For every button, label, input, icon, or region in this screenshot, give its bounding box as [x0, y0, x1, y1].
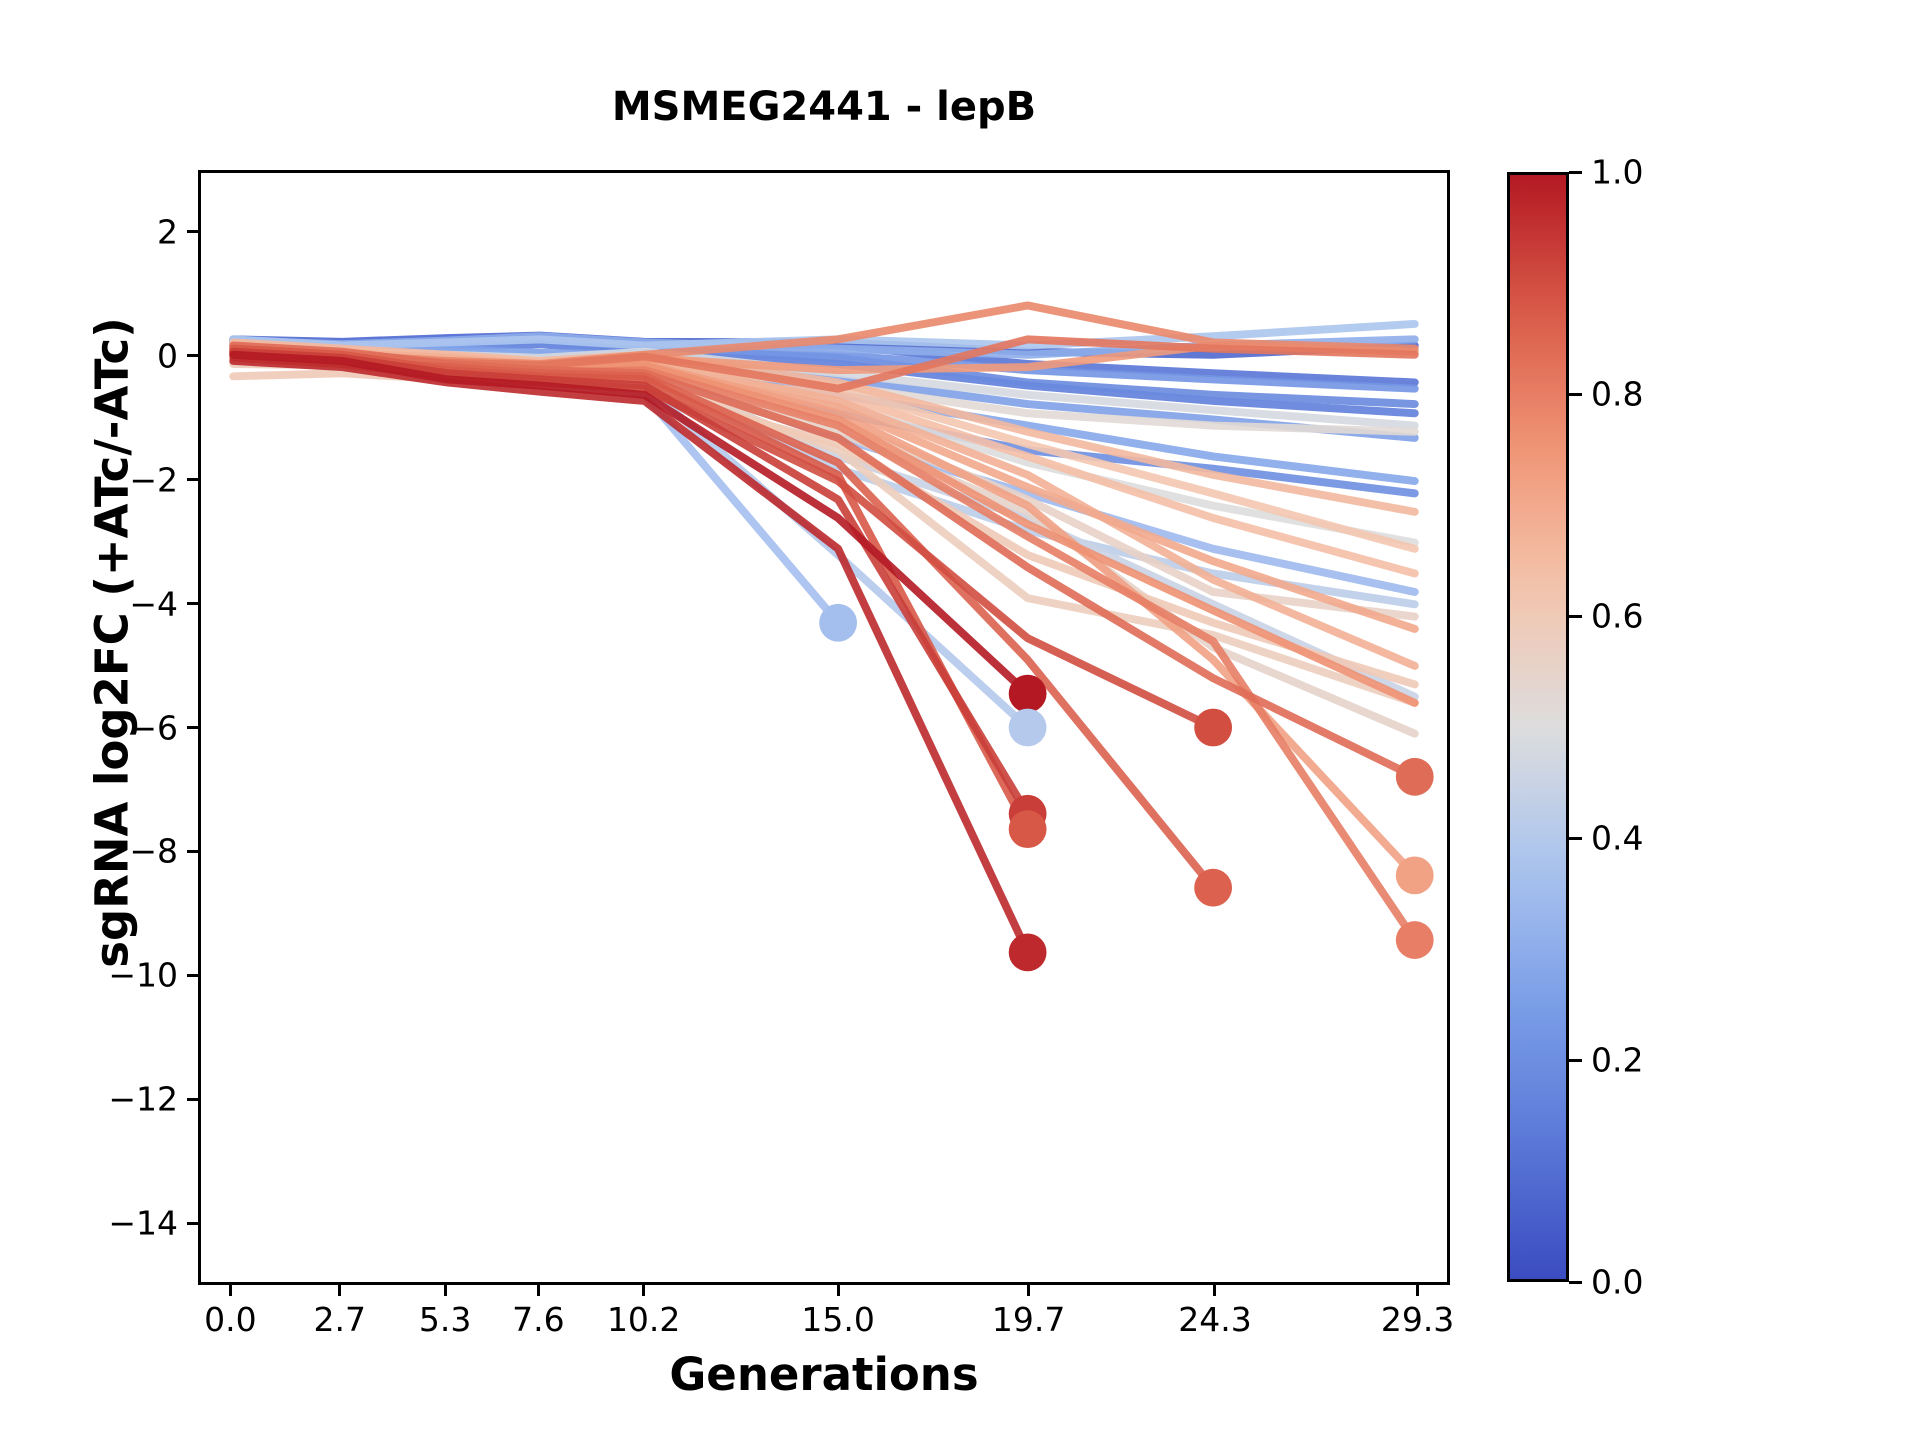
- colorbar-tick-label: 0.0: [1591, 1263, 1643, 1302]
- y-tick-label: −12: [58, 1080, 178, 1119]
- series-endpoint-marker: [1009, 810, 1047, 848]
- colorbar-tick-mark: [1569, 837, 1582, 840]
- x-tick-mark: [837, 1285, 840, 1296]
- plot-area: [198, 170, 1450, 1285]
- y-tick-label: −4: [58, 584, 178, 623]
- colorbar-tick-mark: [1569, 615, 1582, 618]
- colorbar-gradient: [1507, 172, 1569, 1282]
- series-endpoint-marker: [1009, 933, 1047, 971]
- colorbar-tick-mark: [1569, 171, 1582, 174]
- y-tick-mark: [187, 1222, 198, 1225]
- x-axis-label: Generations: [198, 1348, 1450, 1401]
- y-tick-mark: [187, 726, 198, 729]
- colorbar-tick-label: 0.4: [1591, 819, 1643, 858]
- x-tick-mark: [229, 1285, 232, 1296]
- colorbar-tick-mark: [1569, 393, 1582, 396]
- series-endpoint-marker: [1396, 921, 1434, 959]
- colorbar-tick-label: 0.6: [1591, 597, 1643, 636]
- y-tick-label: 0: [58, 336, 178, 375]
- x-tick-mark: [537, 1285, 540, 1296]
- y-tick-label: −6: [58, 708, 178, 747]
- y-tick-mark: [187, 850, 198, 853]
- colorbar-tick-mark: [1569, 1281, 1582, 1284]
- x-tick-mark: [444, 1285, 447, 1296]
- y-tick-mark: [187, 354, 198, 357]
- colorbar-tick-label: 0.8: [1591, 375, 1643, 414]
- series-endpoint-marker: [1396, 856, 1434, 894]
- x-tick-mark: [338, 1285, 341, 1296]
- x-tick-label: 19.7: [959, 1300, 1099, 1339]
- colorbar-tick-mark: [1569, 1059, 1582, 1062]
- y-tick-label: −10: [58, 956, 178, 995]
- y-tick-label: −2: [58, 460, 178, 499]
- series-endpoint-marker: [1194, 709, 1232, 747]
- y-tick-label: −8: [58, 832, 178, 871]
- x-tick-label: 29.3: [1348, 1300, 1488, 1339]
- y-tick-label: 2: [58, 212, 178, 251]
- y-tick-mark: [187, 974, 198, 977]
- colorbar-tick-label: 1.0: [1591, 153, 1643, 192]
- x-tick-label: 15.0: [768, 1300, 908, 1339]
- series-lines: [201, 173, 1447, 1282]
- colorbar-tick-label: 0.2: [1591, 1041, 1643, 1080]
- colorbar: 1.00.80.60.40.20.0: [1507, 172, 1569, 1282]
- x-tick-mark: [1027, 1285, 1030, 1296]
- series-endpoint-marker: [819, 604, 857, 642]
- x-tick-mark: [642, 1285, 645, 1296]
- series-endpoint-marker: [1396, 758, 1434, 796]
- y-tick-mark: [187, 602, 198, 605]
- x-tick-label: 10.2: [574, 1300, 714, 1339]
- chart-title: MSMEG2441 - lepB: [198, 84, 1450, 130]
- y-tick-mark: [187, 478, 198, 481]
- y-tick-label: −14: [58, 1204, 178, 1243]
- series-endpoint-marker: [1194, 869, 1232, 907]
- chart-page: MSMEG2441 - lepB sgRNA log2FC (+ATc/-ATc…: [0, 0, 1920, 1440]
- series-endpoint-marker: [1009, 675, 1047, 713]
- y-tick-mark: [187, 1098, 198, 1101]
- x-tick-mark: [1213, 1285, 1216, 1296]
- x-tick-mark: [1416, 1285, 1419, 1296]
- y-tick-mark: [187, 230, 198, 233]
- x-tick-label: 24.3: [1145, 1300, 1285, 1339]
- series-endpoint-marker: [1009, 709, 1047, 747]
